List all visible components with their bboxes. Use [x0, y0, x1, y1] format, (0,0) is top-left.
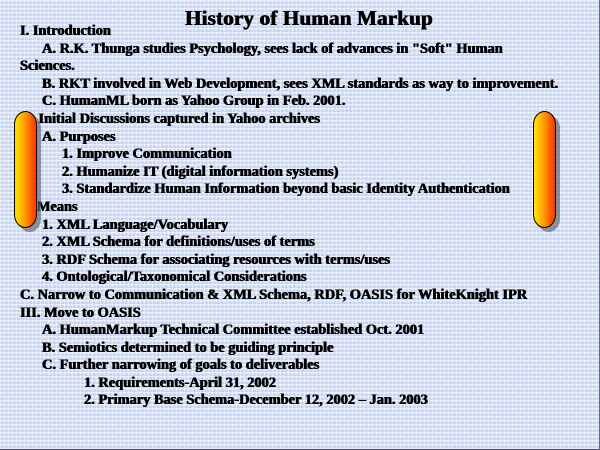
- outline-line: C. HumanML born as Yahoo Group in Feb. 2…: [0, 93, 600, 111]
- outline-line: B. Semiotics determined to be guiding pr…: [0, 340, 600, 358]
- outline-line: A. HumanMarkup Technical Committee estab…: [0, 322, 600, 340]
- outline-line: 2. Humanize IT (digital information syst…: [0, 164, 600, 182]
- outline-line: 3. RDF Schema for associating resources …: [0, 252, 600, 270]
- outline-line: 2. Primary Base Schema-December 12, 2002…: [0, 392, 600, 410]
- outline-line: 2. XML Schema for definitions/uses of te…: [0, 234, 600, 252]
- presentation-slide: History of Human Markup I. Introduction …: [0, 0, 600, 450]
- outline-line: 1. Improve Communication: [0, 146, 600, 164]
- right-pillar-decoration: [533, 111, 556, 228]
- outline-line: Sciences.: [0, 58, 600, 76]
- outline-line: C. Further narrowing of goals to deliver…: [0, 357, 600, 375]
- outline-line: 1. Requirements-April 31, 2002: [0, 375, 600, 393]
- outline-line: C. Narrow to Communication & XML Schema,…: [0, 287, 600, 305]
- outline-line: 3. Standardize Human Information beyond …: [0, 181, 600, 199]
- outline-line: B. Means: [0, 199, 600, 217]
- outline-line: A. Purposes: [0, 129, 600, 147]
- outline-line: I. Introduction: [0, 23, 600, 41]
- slide-outline-body: I. Introduction A. R.K. Thunga studies P…: [0, 23, 600, 410]
- outline-line: 1. XML Language/Vocabulary: [0, 217, 600, 235]
- outline-line: II. Initial Discussions captured in Yaho…: [0, 111, 600, 129]
- outline-line: III. Move to OASIS: [0, 305, 600, 323]
- outline-line: 4. Ontological/Taxonomical Consideration…: [0, 269, 600, 287]
- outline-line: B. RKT involved in Web Development, sees…: [0, 76, 600, 94]
- outline-line: A. R.K. Thunga studies Psychology, sees …: [0, 41, 600, 59]
- left-pillar-decoration: [14, 111, 37, 228]
